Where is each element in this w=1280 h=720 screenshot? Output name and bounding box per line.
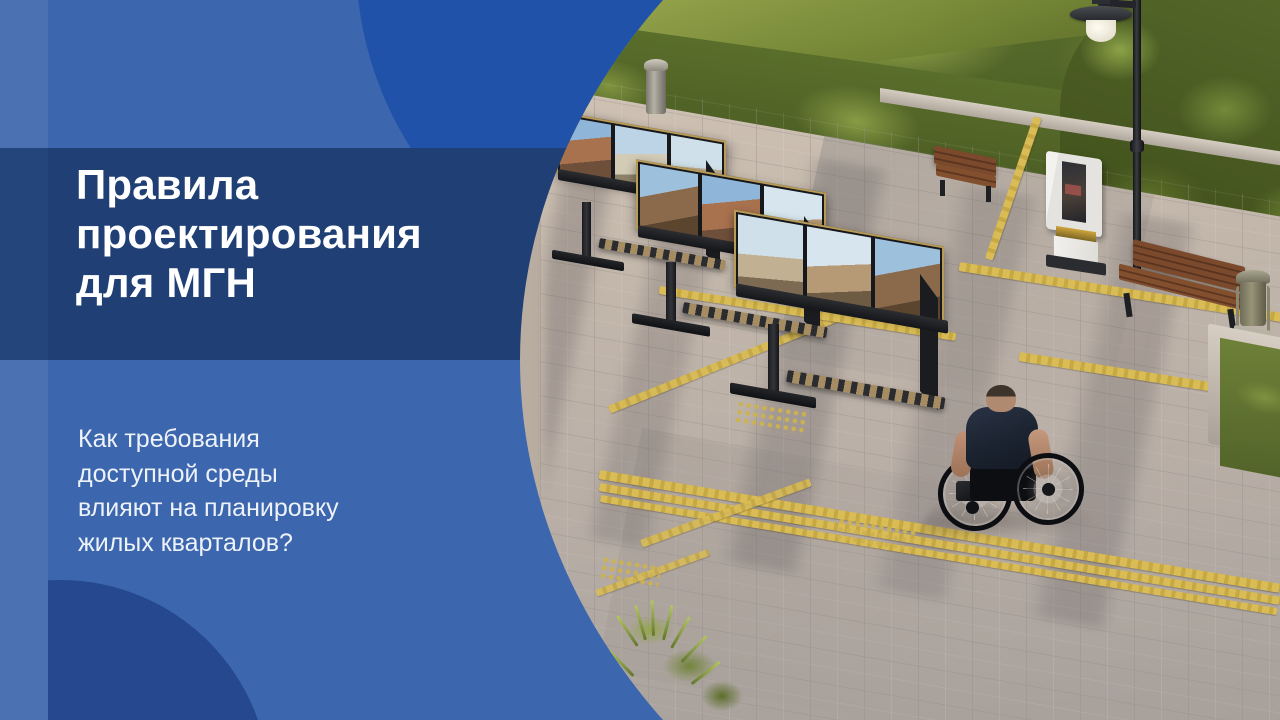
grass-blade [634, 605, 647, 640]
bench-leg [986, 186, 991, 202]
board-photo [640, 164, 698, 236]
grass-blade [662, 605, 674, 641]
wheelchair-user [930, 385, 1070, 535]
street-lamp-globe [1086, 20, 1116, 42]
presentation-slide: Правила проектирования для МГН Как требо… [0, 0, 1280, 720]
grass-blade [670, 616, 691, 649]
decorative-left-strip [0, 0, 48, 720]
board-post [582, 202, 591, 260]
board-photo [807, 226, 872, 307]
slide-title: Правила проектирования для МГН [76, 160, 506, 307]
board-photo [738, 214, 803, 295]
wheelchair-castor [966, 501, 979, 514]
bench-leg [940, 180, 945, 196]
info-kiosk [1046, 155, 1108, 267]
grass-blade [651, 600, 655, 636]
street-lamp-collar [1130, 140, 1144, 152]
board-post [666, 262, 676, 324]
user-head [986, 385, 1016, 412]
slide-subtitle: Как требования доступной среды влияют на… [78, 422, 478, 560]
title-backing-band-strip [0, 148, 48, 360]
trash-bin [1236, 270, 1270, 334]
street-lamp-cap [1092, 0, 1110, 4]
kiosk-screen [1062, 161, 1086, 223]
board-post [768, 324, 779, 394]
bollard [646, 68, 666, 114]
grass-blade [691, 661, 721, 686]
grass-blade [680, 635, 707, 663]
grass-blade [616, 615, 639, 647]
